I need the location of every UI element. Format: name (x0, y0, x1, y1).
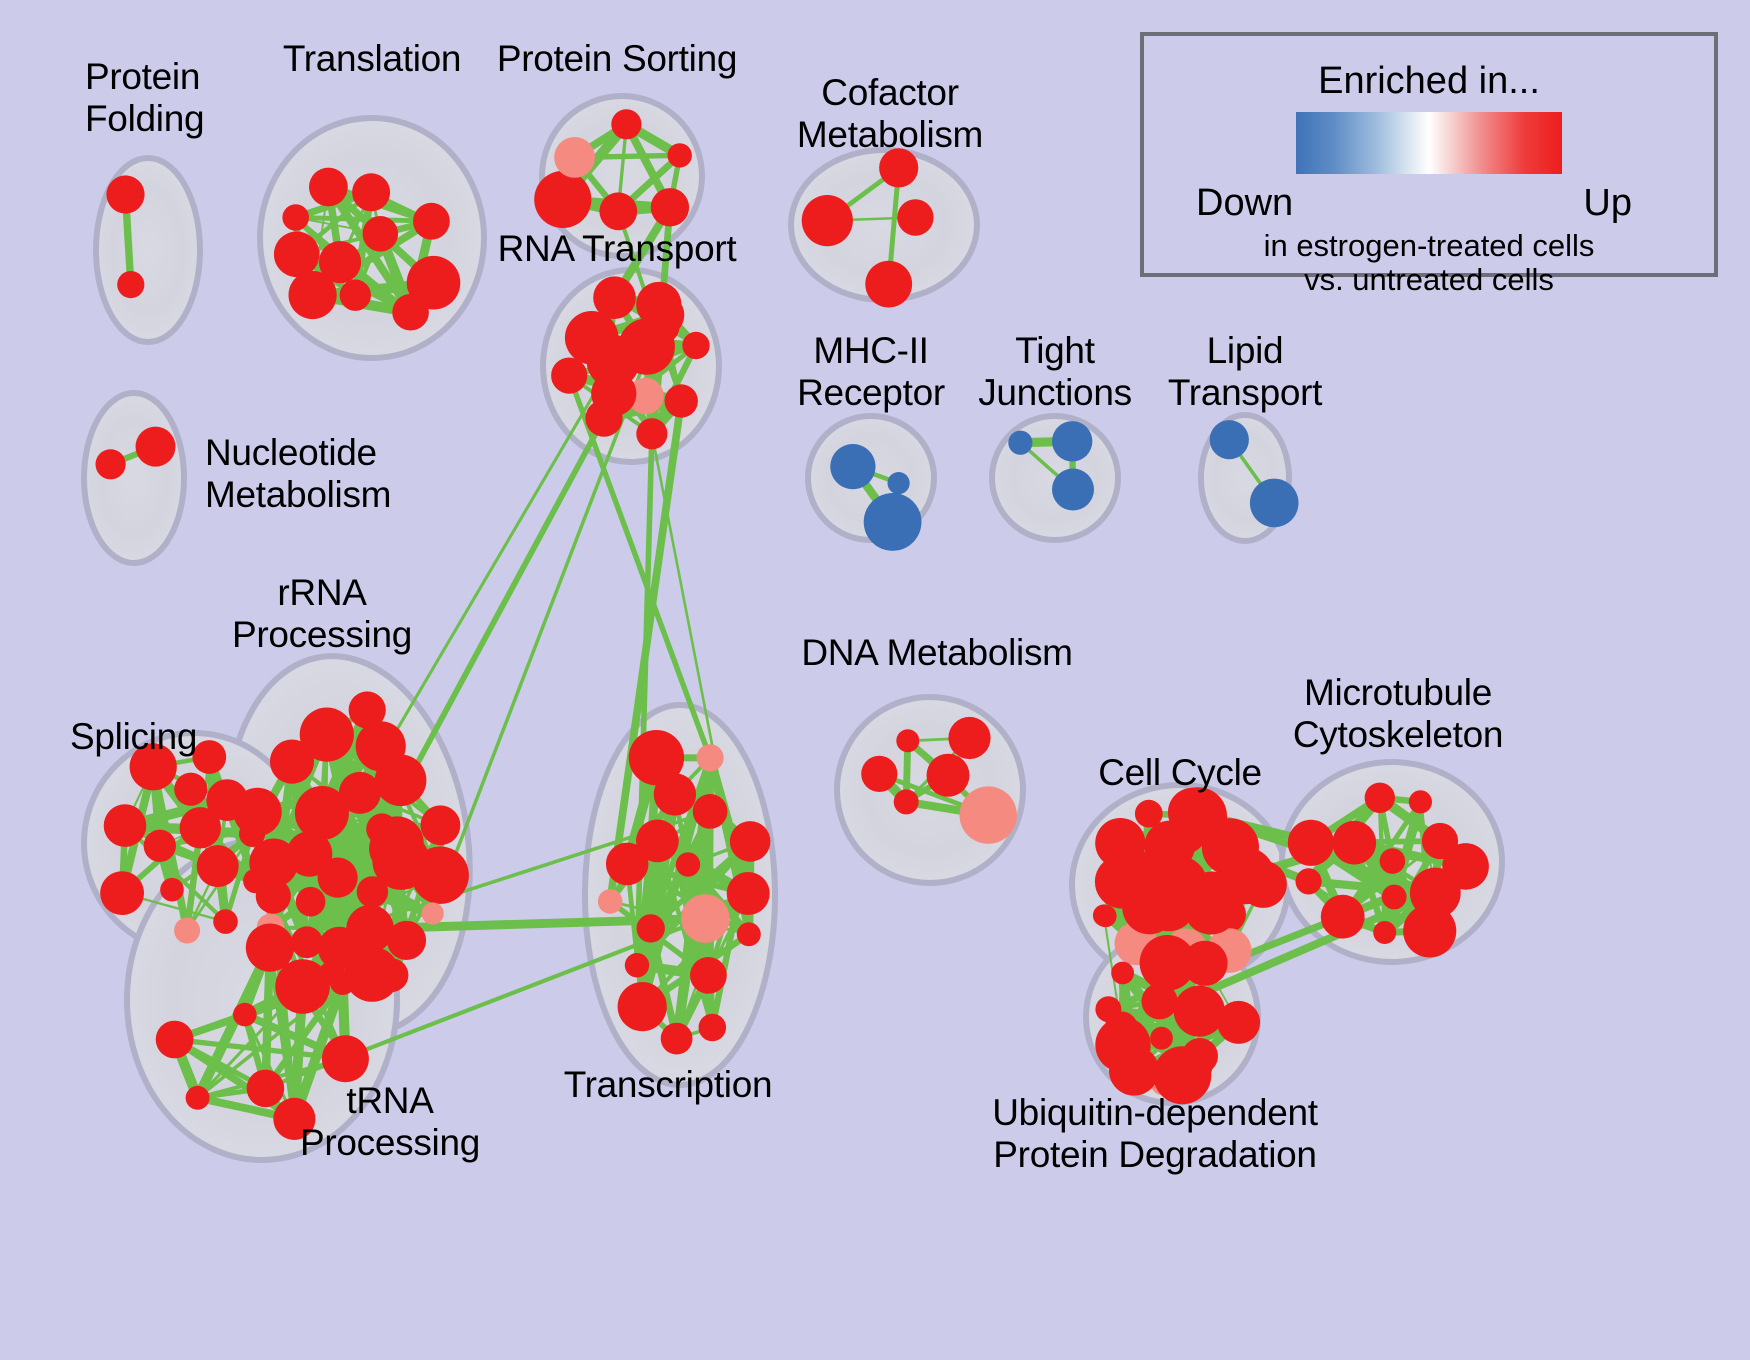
network-node[interactable] (1168, 788, 1217, 837)
network-node[interactable] (318, 927, 361, 970)
network-node[interactable] (340, 280, 371, 311)
cluster-label-rna-transport: RNA Transport (498, 228, 737, 270)
network-node[interactable] (534, 171, 591, 228)
network-node[interactable] (274, 232, 320, 278)
network-node[interactable] (727, 872, 770, 915)
network-node[interactable] (349, 691, 386, 728)
network-node[interactable] (1217, 1001, 1260, 1044)
cluster-label-ubiquitin-protein-degradation: Ubiquitin-dependent Protein Degradation (992, 1092, 1318, 1176)
network-node[interactable] (1288, 820, 1334, 866)
network-node[interactable] (1380, 848, 1406, 874)
network-node[interactable] (636, 418, 667, 449)
network-node[interactable] (737, 922, 761, 946)
network-node[interactable] (156, 1021, 194, 1059)
network-node[interactable] (802, 195, 853, 246)
network-node[interactable] (551, 358, 587, 394)
network-node[interactable] (661, 1023, 693, 1055)
network-node[interactable] (830, 444, 875, 489)
legend-subtitle-2: vs. untreated cells (1144, 262, 1714, 298)
network-node[interactable] (192, 740, 226, 774)
network-node[interactable] (270, 740, 314, 784)
network-node[interactable] (322, 1035, 369, 1082)
cluster-label-cofactor-metabolism: Cofactor Metabolism (797, 72, 983, 156)
network-node[interactable] (1296, 868, 1322, 894)
cluster-label-splicing: Splicing (70, 716, 197, 758)
network-node[interactable] (637, 914, 665, 942)
network-node[interactable] (375, 755, 427, 807)
network-node[interactable] (117, 271, 144, 298)
network-node[interactable] (392, 294, 429, 331)
network-node[interactable] (239, 821, 265, 847)
network-node[interactable] (1409, 790, 1432, 813)
cluster-label-protein-sorting: Protein Sorting (497, 38, 737, 80)
network-node[interactable] (861, 756, 897, 792)
network-node[interactable] (100, 871, 144, 915)
network-node[interactable] (1109, 1046, 1159, 1096)
network-node[interactable] (1321, 895, 1365, 939)
network-node[interactable] (291, 926, 323, 958)
network-node[interactable] (1094, 905, 1116, 927)
network-node[interactable] (699, 1014, 727, 1042)
network-node[interactable] (897, 199, 933, 235)
network-node[interactable] (668, 143, 692, 167)
network-node[interactable] (611, 109, 641, 139)
network-node[interactable] (598, 889, 623, 914)
network-node[interactable] (676, 852, 700, 876)
network-node[interactable] (1332, 821, 1376, 865)
network-node[interactable] (641, 293, 684, 336)
cluster-label-rrna-processing: rRNA Processing (232, 572, 412, 656)
cluster-label-microtubule-cytoskeleton: Microtubule Cytoskeleton (1293, 672, 1503, 756)
network-node[interactable] (106, 175, 144, 213)
network-node[interactable] (1136, 848, 1176, 888)
network-node[interactable] (591, 371, 636, 416)
network-node[interactable] (593, 276, 636, 319)
cluster-label-cell-cycle: Cell Cycle (1098, 752, 1262, 794)
network-node[interactable] (160, 878, 184, 902)
network-node[interactable] (363, 216, 399, 252)
cluster-label-mhc-ii-receptor: MHC-II Receptor (797, 330, 945, 414)
legend-down-label: Down (1196, 182, 1293, 225)
network-node[interactable] (330, 969, 356, 995)
network-node[interactable] (554, 137, 595, 178)
network-node[interactable] (1111, 962, 1134, 985)
network-node[interactable] (275, 959, 330, 1014)
network-node[interactable] (318, 858, 358, 898)
network-node[interactable] (180, 807, 221, 848)
network-node[interactable] (104, 804, 147, 847)
network-node[interactable] (865, 261, 912, 308)
network-node[interactable] (309, 168, 348, 207)
network-node[interactable] (618, 982, 667, 1031)
legend-title: Enriched in... (1144, 60, 1714, 103)
network-node[interactable] (697, 744, 724, 771)
cluster-ellipse-nucleotide-metabolism (84, 393, 184, 563)
network-node[interactable] (413, 203, 450, 240)
network-node[interactable] (310, 803, 341, 834)
network-node[interactable] (888, 472, 910, 494)
cluster-label-lipid-transport: Lipid Transport (1168, 330, 1322, 414)
cluster-label-tight-junctions: Tight Junctions (978, 330, 1132, 414)
cluster-label-transcription: Transcription (564, 1064, 773, 1106)
cluster-label-translation: Translation (283, 38, 461, 80)
network-node[interactable] (1052, 421, 1092, 461)
network-node[interactable] (1250, 479, 1299, 528)
enrichment-map-figure: Protein FoldingTranslationProtein Sortin… (0, 0, 1750, 1360)
network-node[interactable] (174, 918, 200, 944)
network-node[interactable] (629, 730, 684, 785)
network-node[interactable] (864, 493, 922, 551)
network-node[interactable] (96, 449, 126, 479)
network-node[interactable] (1135, 800, 1163, 828)
network-node[interactable] (1442, 843, 1489, 890)
network-node[interactable] (289, 271, 337, 319)
network-node[interactable] (636, 820, 679, 863)
network-node[interactable] (960, 786, 1017, 843)
network-node[interactable] (682, 332, 709, 359)
network-node[interactable] (421, 805, 461, 845)
network-node[interactable] (896, 729, 919, 752)
network-node[interactable] (213, 909, 238, 934)
network-node[interactable] (1008, 431, 1032, 455)
network-node[interactable] (186, 1086, 210, 1110)
network-node[interactable] (256, 879, 291, 914)
network-node[interactable] (144, 830, 176, 862)
network-node[interactable] (1174, 986, 1225, 1037)
network-node[interactable] (1150, 1027, 1173, 1050)
network-node[interactable] (282, 204, 309, 231)
network-node[interactable] (174, 773, 207, 806)
network-node[interactable] (1373, 921, 1396, 944)
legend-color-bar (1296, 112, 1562, 174)
network-node[interactable] (352, 173, 390, 211)
legend-up-label: Up (1583, 182, 1632, 225)
network-node[interactable] (599, 192, 637, 230)
network-node[interactable] (296, 887, 326, 917)
network-node[interactable] (1052, 469, 1094, 511)
network-node[interactable] (625, 953, 649, 977)
network-node[interactable] (233, 1003, 257, 1027)
network-node[interactable] (681, 894, 730, 943)
legend-box: Enriched in... Down Up in estrogen-treat… (1140, 32, 1718, 277)
network-node[interactable] (1382, 885, 1407, 910)
network-node[interactable] (1210, 420, 1249, 459)
network-node[interactable] (197, 845, 239, 887)
network-node[interactable] (339, 772, 381, 814)
network-node[interactable] (136, 427, 176, 467)
cluster-label-trna-processing: tRNA Processing (300, 1080, 480, 1164)
network-node[interactable] (651, 188, 689, 226)
legend-subtitle-1: in estrogen-treated cells (1144, 228, 1714, 264)
network-node[interactable] (1105, 1011, 1138, 1044)
network-node[interactable] (369, 823, 420, 874)
network-node[interactable] (1140, 935, 1196, 991)
network-node[interactable] (1403, 904, 1456, 957)
network-node[interactable] (422, 902, 444, 924)
network-node[interactable] (894, 789, 919, 814)
network-node[interactable] (693, 794, 728, 829)
network-node[interactable] (690, 957, 727, 994)
network-node[interactable] (948, 717, 990, 759)
network-node[interactable] (247, 1070, 285, 1108)
cluster-label-protein-folding: Protein Folding (85, 56, 204, 140)
network-node[interactable] (1365, 783, 1395, 813)
cluster-label-dna-metabolism: DNA Metabolism (801, 632, 1072, 674)
network-node[interactable] (730, 821, 771, 862)
network-node[interactable] (927, 754, 970, 797)
network-node[interactable] (665, 384, 698, 417)
cluster-label-nucleotide-metabolism: Nucleotide Metabolism (205, 432, 391, 516)
